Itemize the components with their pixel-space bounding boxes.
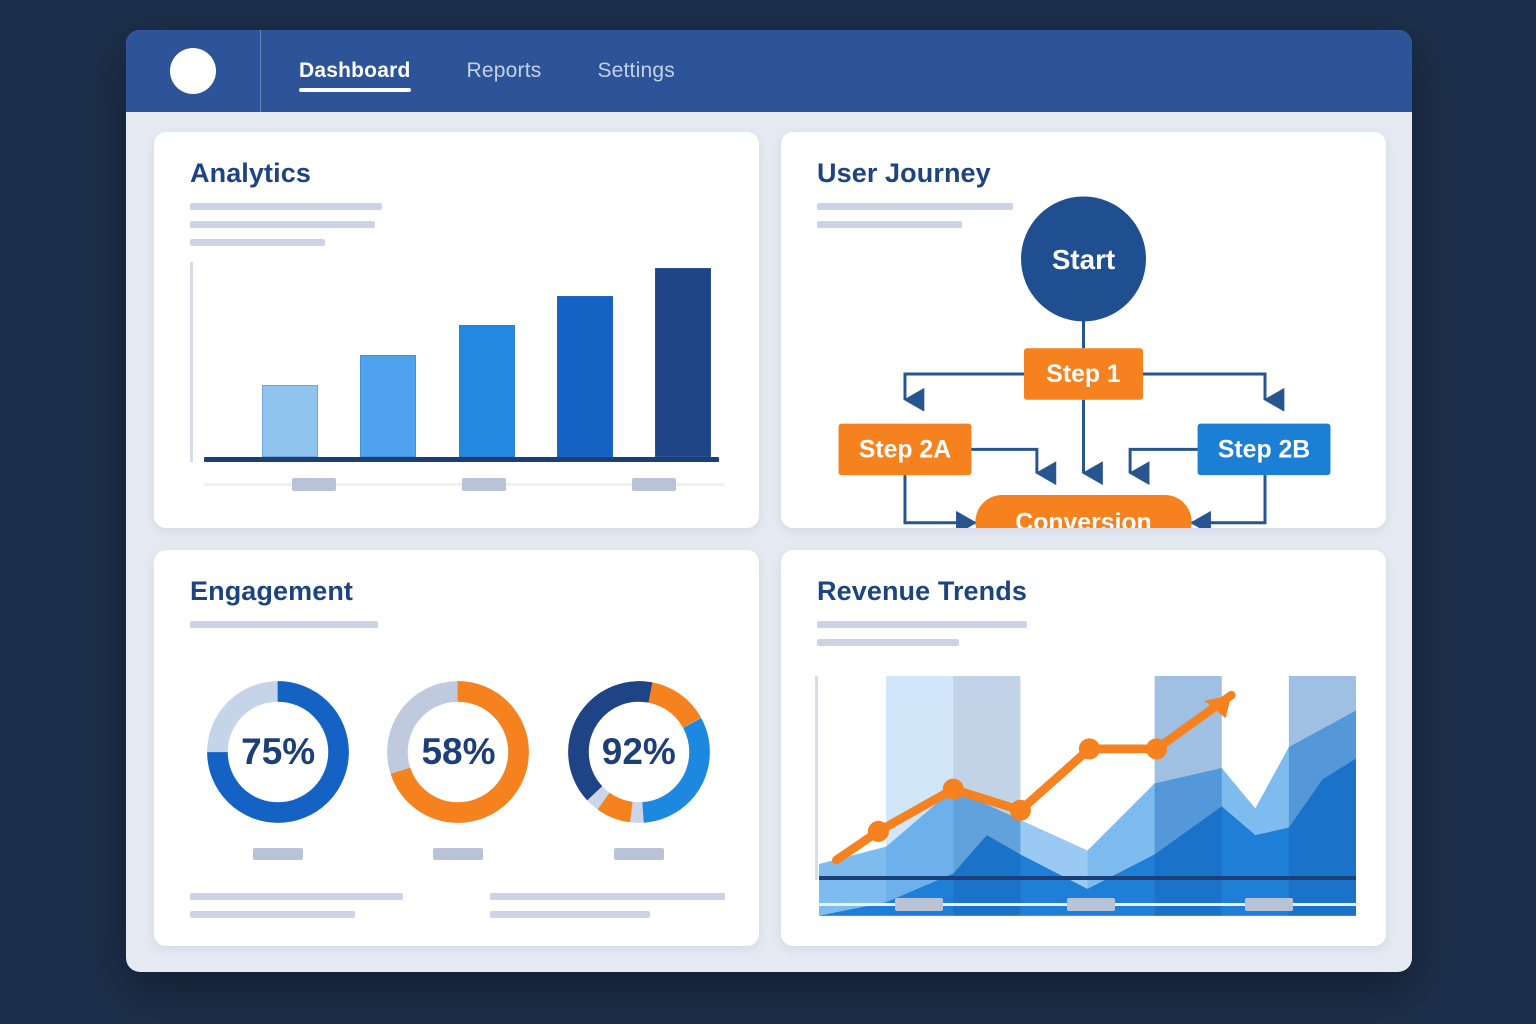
flow-node-conversion-label: Conversion	[1015, 510, 1151, 528]
x-axis-baseline	[204, 457, 719, 462]
tab-dashboard[interactable]: Dashboard	[299, 30, 411, 112]
tab-settings-label: Settings	[597, 59, 674, 83]
edge-step2a-conversion-top	[971, 449, 1036, 473]
placeholder-line	[817, 639, 959, 646]
logo-container	[126, 30, 260, 112]
donut-caption-placeholder	[433, 848, 483, 860]
engagement-donuts: 75% 58%	[188, 672, 729, 860]
tab-reports[interactable]: Reports	[467, 30, 542, 112]
edge-step2b-conversion-side	[1192, 475, 1265, 523]
flow-node-start-label: Start	[1052, 244, 1115, 275]
flow-node-step1[interactable]: Step 1	[1024, 348, 1143, 400]
edge-step1-step2b	[1143, 374, 1265, 400]
navbar: Dashboard Reports Settings	[126, 30, 1412, 112]
bars-group	[262, 268, 711, 457]
edge-step1-step2a	[905, 374, 1024, 400]
analytics-title: Analytics	[190, 158, 729, 189]
app-window: Dashboard Reports Settings Analytics	[126, 30, 1412, 972]
engagement-footer-placeholders	[190, 882, 725, 918]
x-axis-tick	[632, 478, 676, 491]
bar[interactable]	[557, 296, 613, 457]
placeholder-line	[490, 911, 650, 918]
revenue-chart	[811, 676, 1360, 924]
trend-marker[interactable]	[943, 779, 964, 800]
donut-label-92: 92%	[559, 672, 719, 832]
trend-marker[interactable]	[1079, 738, 1100, 759]
placeholder-line	[817, 621, 1027, 628]
placeholder-line	[190, 239, 325, 246]
flow-node-step2a[interactable]: Step 2A	[839, 424, 972, 476]
placeholder-line	[190, 893, 403, 900]
donut-caption-placeholder	[253, 848, 303, 860]
tab-dashboard-label: Dashboard	[299, 59, 411, 83]
placeholder-line	[190, 621, 378, 628]
edge-step2b-conversion-top	[1130, 449, 1197, 473]
placeholder-line	[190, 221, 375, 228]
donut-item[interactable]: 92%	[559, 672, 719, 860]
tab-reports-label: Reports	[467, 59, 542, 83]
flow-node-step1-label: Step 1	[1046, 361, 1121, 388]
x-axis-tick	[1067, 898, 1115, 911]
x-axis-tick	[462, 478, 506, 491]
x-axis-tick	[1245, 898, 1293, 911]
engagement-placeholder-text	[190, 621, 729, 628]
bar[interactable]	[262, 385, 318, 457]
bar[interactable]	[360, 355, 416, 457]
donut-value-92: 92%	[602, 731, 676, 773]
bar[interactable]	[655, 268, 711, 457]
trend-marker[interactable]	[1146, 738, 1167, 759]
x-axis-tick	[895, 898, 943, 911]
x-axis-baseline	[819, 876, 1356, 880]
card-analytics[interactable]: Analytics	[154, 132, 759, 528]
placeholder-line	[490, 893, 725, 900]
flow-node-step2b-label: Step 2B	[1218, 436, 1310, 463]
donut-chart-92: 92%	[559, 672, 719, 832]
donut-chart-75: 75%	[198, 672, 358, 832]
placeholder-line	[190, 203, 382, 210]
placeholder-line	[190, 911, 355, 918]
donut-caption-placeholder	[614, 848, 664, 860]
donut-value-58: 58%	[421, 731, 495, 773]
card-user-journey[interactable]: User Journey	[781, 132, 1386, 528]
analytics-placeholder-text	[190, 203, 729, 246]
flow-node-conversion[interactable]: Conversion	[975, 495, 1191, 528]
navbar-tabs: Dashboard Reports Settings	[261, 30, 675, 112]
bar[interactable]	[459, 325, 515, 457]
flow-node-step2a-label: Step 2A	[859, 436, 951, 463]
tab-settings[interactable]: Settings	[597, 30, 674, 112]
footer-column-left	[190, 882, 420, 918]
donut-item[interactable]: 75%	[198, 672, 358, 860]
trend-marker[interactable]	[1010, 800, 1031, 821]
flow-node-start[interactable]: Start	[1021, 196, 1146, 321]
donut-value-75: 75%	[241, 731, 315, 773]
user-journey-flowchart: Start Step 1 Step 2A Step 2B	[781, 178, 1386, 528]
analytics-bar-chart	[190, 262, 725, 502]
edge-step2a-conversion-side	[905, 475, 975, 523]
card-engagement[interactable]: Engagement 75%	[154, 550, 759, 946]
revenue-title: Revenue Trends	[817, 576, 1356, 607]
y-axis	[190, 262, 193, 462]
y-axis	[815, 676, 818, 880]
flow-node-step2b[interactable]: Step 2B	[1198, 424, 1331, 476]
donut-item[interactable]: 58%	[378, 672, 538, 860]
footer-column-right	[490, 882, 725, 918]
donut-chart-58: 58%	[378, 672, 538, 832]
donut-label-75: 75%	[198, 672, 358, 832]
dashboard-grid: Analytics	[126, 112, 1412, 972]
x-axis-tick	[292, 478, 336, 491]
card-revenue-trends[interactable]: Revenue Trends	[781, 550, 1386, 946]
trend-marker[interactable]	[868, 821, 889, 842]
donut-label-58: 58%	[378, 672, 538, 832]
tab-active-underline	[299, 88, 411, 92]
circle-logo-icon	[170, 48, 216, 94]
engagement-title: Engagement	[190, 576, 729, 607]
revenue-placeholder-text	[817, 621, 1356, 646]
